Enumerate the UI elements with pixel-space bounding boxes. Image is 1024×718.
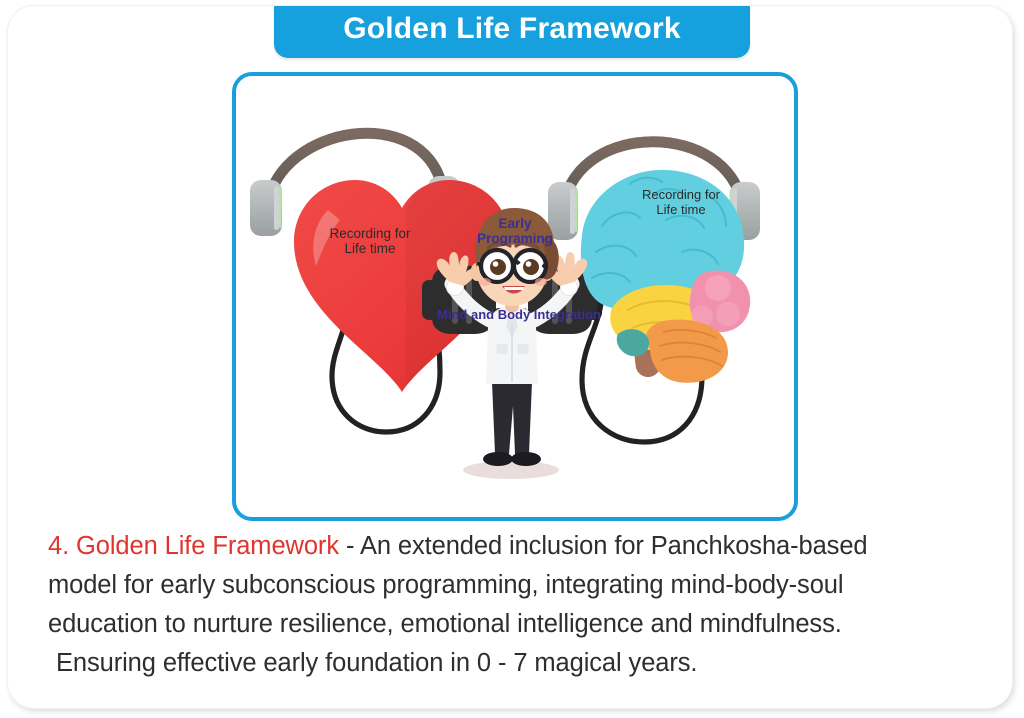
caption-line-1: 4. Golden Life Framework - An extended i… bbox=[48, 527, 978, 566]
caption-line-1-rest: - An extended inclusion for Panchkosha-b… bbox=[339, 532, 868, 560]
diagram-frame: Recording for Life time Recording for Li… bbox=[232, 72, 798, 521]
caption-line-4: Ensuring effective early foundation in 0… bbox=[48, 644, 978, 683]
caption-line-3: education to nurture resilience, emotion… bbox=[48, 605, 978, 644]
page-title: Golden Life Framework bbox=[274, 12, 750, 46]
brain-icon bbox=[581, 170, 750, 383]
caption-highlight: 4. Golden Life Framework bbox=[48, 532, 339, 560]
slide-card: Golden Life Framework bbox=[8, 6, 1012, 708]
caption-line-2: model for early subconscious programming… bbox=[48, 566, 978, 605]
caption-text: 4. Golden Life Framework - An extended i… bbox=[48, 527, 978, 683]
title-banner: Golden Life Framework bbox=[274, 6, 750, 58]
diagram-stage bbox=[236, 76, 794, 517]
framework-illustration bbox=[236, 76, 786, 509]
